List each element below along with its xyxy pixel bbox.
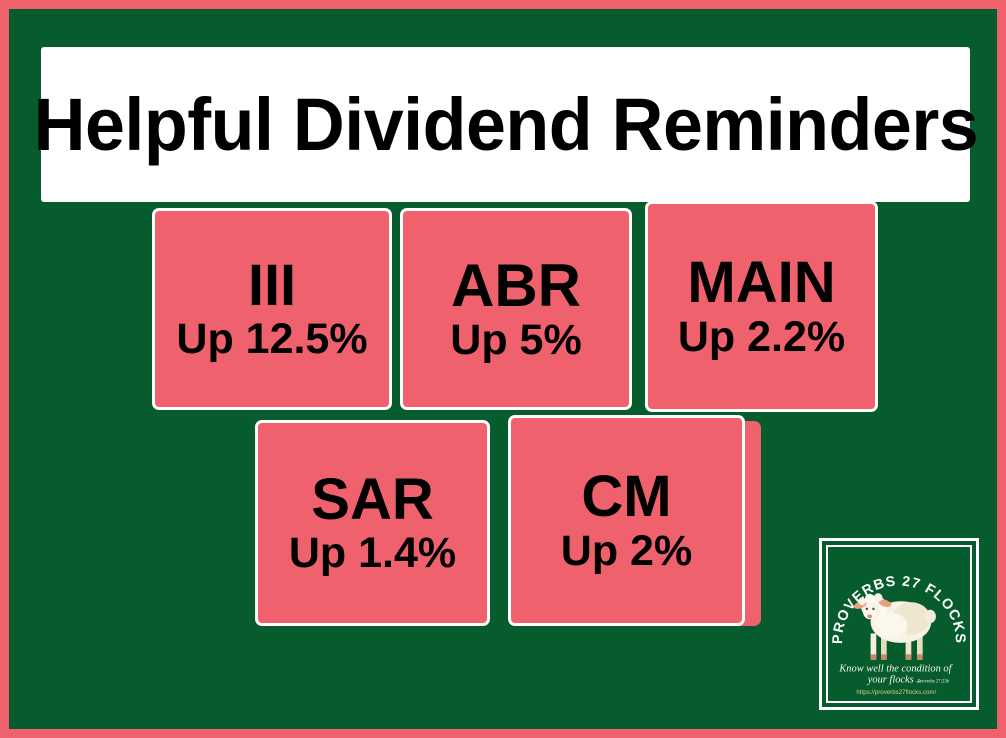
change-value: Up 1.4% xyxy=(289,531,456,576)
brand-logo: PROVERBS 27 FLOCKS xyxy=(819,538,979,710)
change-value: Up 2% xyxy=(561,529,692,574)
change-value: Up 5% xyxy=(450,318,581,363)
logo-artwork: PROVERBS 27 FLOCKS xyxy=(828,547,970,701)
logo-tagline-line1: Know well the condition of xyxy=(838,663,953,674)
slide-canvas: Helpful Dividend Reminders III Up 12.5% … xyxy=(0,0,1006,738)
stock-card-iii[interactable]: III Up 12.5% xyxy=(152,208,392,410)
slide-background: Helpful Dividend Reminders III Up 12.5% … xyxy=(9,9,997,729)
logo-inner-frame: PROVERBS 27 FLOCKS xyxy=(826,545,972,703)
logo-scripture-reference: Proverbs 27:23b xyxy=(918,680,950,685)
ticker-symbol: ABR xyxy=(451,255,581,316)
stock-card-abr[interactable]: ABR Up 5% xyxy=(400,208,632,410)
ticker-symbol: SAR xyxy=(311,470,433,529)
ticker-symbol: MAIN xyxy=(687,253,835,312)
stock-card-main[interactable]: MAIN Up 2.2% xyxy=(645,201,878,412)
stock-card-cm[interactable]: CM Up 2% xyxy=(508,415,745,626)
change-value: Up 12.5% xyxy=(176,317,367,362)
ticker-symbol: CM xyxy=(581,467,671,526)
stock-card-sar[interactable]: SAR Up 1.4% xyxy=(255,420,490,626)
logo-url: https://proverbs27flocks.com/ xyxy=(856,689,936,696)
page-title: Helpful Dividend Reminders xyxy=(33,88,978,162)
title-banner: Helpful Dividend Reminders xyxy=(41,47,970,202)
ticker-symbol: III xyxy=(248,256,296,315)
logo-tagline-line2: your flocks .. xyxy=(867,675,922,686)
change-value: Up 2.2% xyxy=(678,315,845,360)
